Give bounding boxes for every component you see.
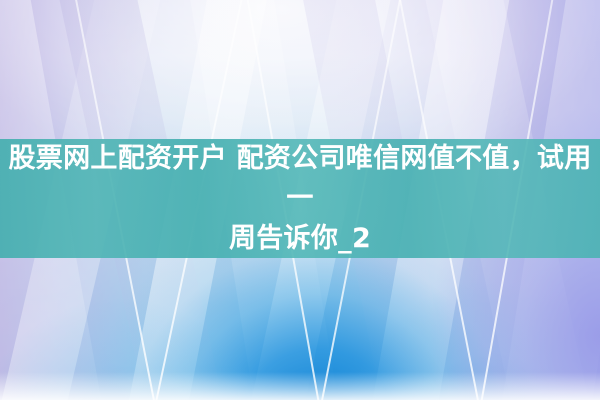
title-band: 股票网上配资开户 配资公司唯信网值不值，试用一 周告诉你_2 (0, 139, 600, 258)
banner-title: 股票网上配资开户 配资公司唯信网值不值，试用一 周告诉你_2 (0, 139, 600, 259)
banner-card: 股票网上配资开户 配资公司唯信网值不值，试用一 周告诉你_2 (0, 0, 600, 400)
